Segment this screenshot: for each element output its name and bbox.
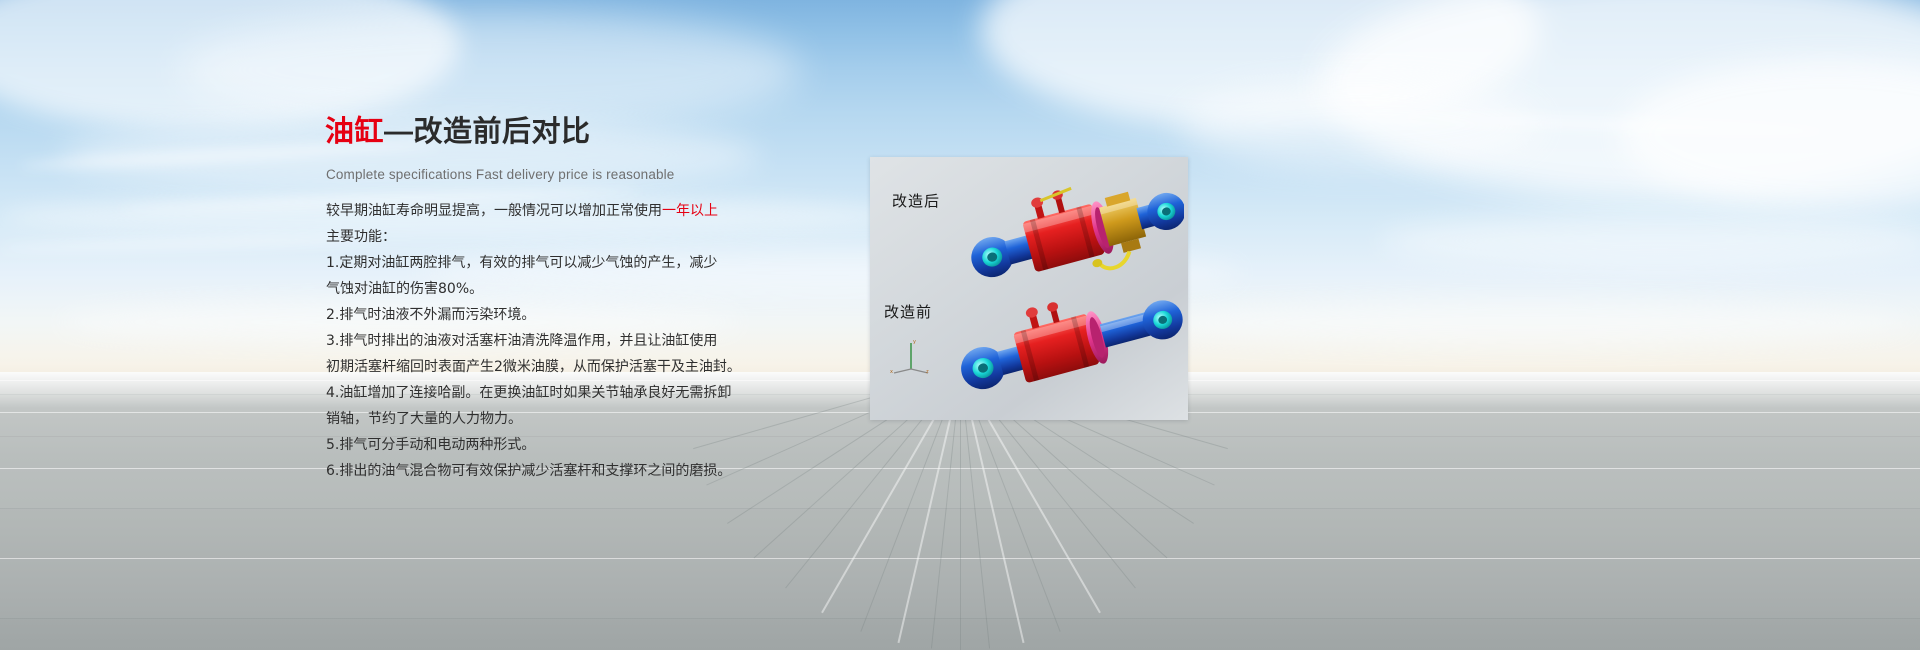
feature-line: 主要功能： xyxy=(326,224,746,250)
feature-line: 初期活塞杆缩回时表面产生2微米油膜，从而保护活塞干及主油封。 xyxy=(326,354,746,380)
feature-line-text: 4.油缸增加了连接哈副。在更换油缸时如果关节轴承良好无需拆卸 xyxy=(326,385,731,401)
feature-line-text: 主要功能： xyxy=(326,229,396,245)
feature-line: 6.排出的油气混合物可有效保护减少活塞杆和支撑环之间的磨损。 xyxy=(326,458,746,484)
feature-line: 较早期油缸寿命明显提高，一般情况可以增加正常使用一年以上 xyxy=(326,198,746,224)
page-title-rest: —改造前后对比 xyxy=(384,116,591,148)
feature-line-text: 初期活塞杆缩回时表面产生2微米油膜，从而保护活塞干及主油封。 xyxy=(326,359,741,375)
label-before-modification: 改造前 xyxy=(884,301,932,322)
axis-gizmo-icon: y x z xyxy=(890,335,932,375)
product-comparison-panel: 改造后 改造前 xyxy=(870,157,1188,420)
feature-line-text: 2.排气时油液不外漏而污染环境。 xyxy=(326,307,535,323)
feature-line-text: 气蚀对油缸的伤害80%。 xyxy=(326,281,483,297)
feature-line-text: 销轴，节约了大量的人力物力。 xyxy=(326,411,522,427)
cylinder-before-modification xyxy=(954,283,1184,407)
feature-line-text: 1.定期对油缸两腔排气，有效的排气可以减少气蚀的产生，减少 xyxy=(326,255,717,271)
svg-text:z: z xyxy=(926,369,929,375)
feature-line: 气蚀对油缸的伤害80%。 xyxy=(326,276,746,302)
feature-line: 5.排气可分手动和电动两种形式。 xyxy=(326,432,746,458)
feature-line-text: 3.排气时排出的油液对活塞杆油清洗降温作用，并且让油缸使用 xyxy=(326,333,717,349)
feature-line: 销轴，节约了大量的人力物力。 xyxy=(326,406,746,432)
feature-line: 4.油缸增加了连接哈副。在更换油缸时如果关节轴承良好无需拆卸 xyxy=(326,380,746,406)
feature-line: 1.定期对油缸两腔排气，有效的排气可以减少气蚀的产生，减少 xyxy=(326,250,746,276)
feature-description: 较早期油缸寿命明显提高，一般情况可以增加正常使用一年以上主要功能：1.定期对油缸… xyxy=(326,198,746,484)
feature-line-text: 较早期油缸寿命明显提高，一般情况可以增加正常使用 xyxy=(326,203,662,219)
banner-content: 油缸—改造前后对比 Complete specifications Fast d… xyxy=(0,0,1920,650)
svg-text:y: y xyxy=(913,339,916,345)
page-title-highlight: 油缸 xyxy=(325,116,384,148)
svg-text:x: x xyxy=(890,369,893,375)
feature-line-text: 6.排出的油气混合物可有效保护减少活塞杆和支撑环之间的磨损。 xyxy=(326,463,731,479)
feature-line: 3.排气时排出的油液对活塞杆油清洗降温作用，并且让油缸使用 xyxy=(326,328,746,354)
feature-line-text: 5.排气可分手动和电动两种形式。 xyxy=(326,437,535,453)
label-after-modification: 改造后 xyxy=(892,190,940,211)
page-subtitle: Complete specifications Fast delivery pr… xyxy=(326,167,674,182)
banner-stage: 油缸—改造前后对比 Complete specifications Fast d… xyxy=(0,0,1920,650)
page-title: 油缸—改造前后对比 xyxy=(325,108,591,150)
feature-line: 2.排气时油液不外漏而污染环境。 xyxy=(326,302,746,328)
cylinder-after-modification xyxy=(964,171,1184,289)
feature-line-highlight: 一年以上 xyxy=(662,203,718,219)
